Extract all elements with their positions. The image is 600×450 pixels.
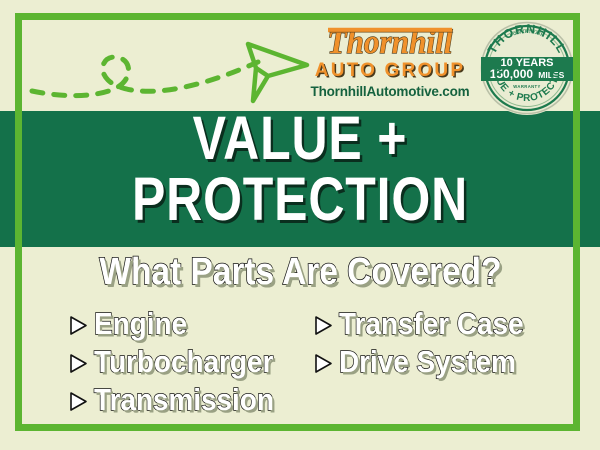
triangle-right-icon — [68, 314, 89, 337]
logo-subtitle: AUTO GROUP — [310, 61, 470, 81]
triangle-right-icon — [313, 352, 334, 375]
list-item-label: Drive System — [339, 345, 516, 379]
triangle-right-icon — [313, 314, 334, 337]
logo-website-url: ThornhillAutomotive.com — [310, 84, 470, 100]
list-item-label: Engine — [94, 307, 187, 341]
list-item: Transmission — [68, 381, 318, 419]
subheading: What Parts Are Covered? — [0, 250, 600, 294]
dashed-flight-path-icon — [20, 18, 310, 108]
covered-parts-left-column: Engine Turbocharger Transmission — [68, 305, 318, 419]
value-protection-banner: Thornhill AUTO GROUP ThornhillAutomotive… — [0, 0, 600, 450]
subheading-text: What Parts Are Covered? — [99, 250, 501, 294]
warranty-seal-badge: THORNHILL POWERTRAIN 10 YEARS 150,000 MI… — [479, 20, 575, 116]
page-title: VALUE + PROTECTION — [0, 108, 600, 230]
list-item: Transfer Case — [313, 305, 563, 343]
thornhill-auto-group-logo: Thornhill AUTO GROUP ThornhillAutomotive… — [310, 22, 470, 104]
headline-line-1: VALUE + — [54, 108, 546, 168]
list-item: Turbocharger — [68, 343, 318, 381]
list-item-label: Turbocharger — [94, 345, 273, 379]
list-item: Drive System — [313, 343, 563, 381]
triangle-right-icon — [68, 390, 89, 413]
headline-line-2: PROTECTION — [54, 168, 546, 230]
list-item-label: Transmission — [94, 383, 274, 417]
list-item-label: Transfer Case — [339, 307, 524, 341]
svg-text:WARRANTY: WARRANTY — [513, 84, 540, 89]
triangle-right-icon — [68, 352, 89, 375]
list-item: Engine — [68, 305, 318, 343]
covered-parts-right-column: Transfer Case Drive System — [313, 305, 563, 381]
logo-wordmark: Thornhill — [310, 22, 470, 62]
